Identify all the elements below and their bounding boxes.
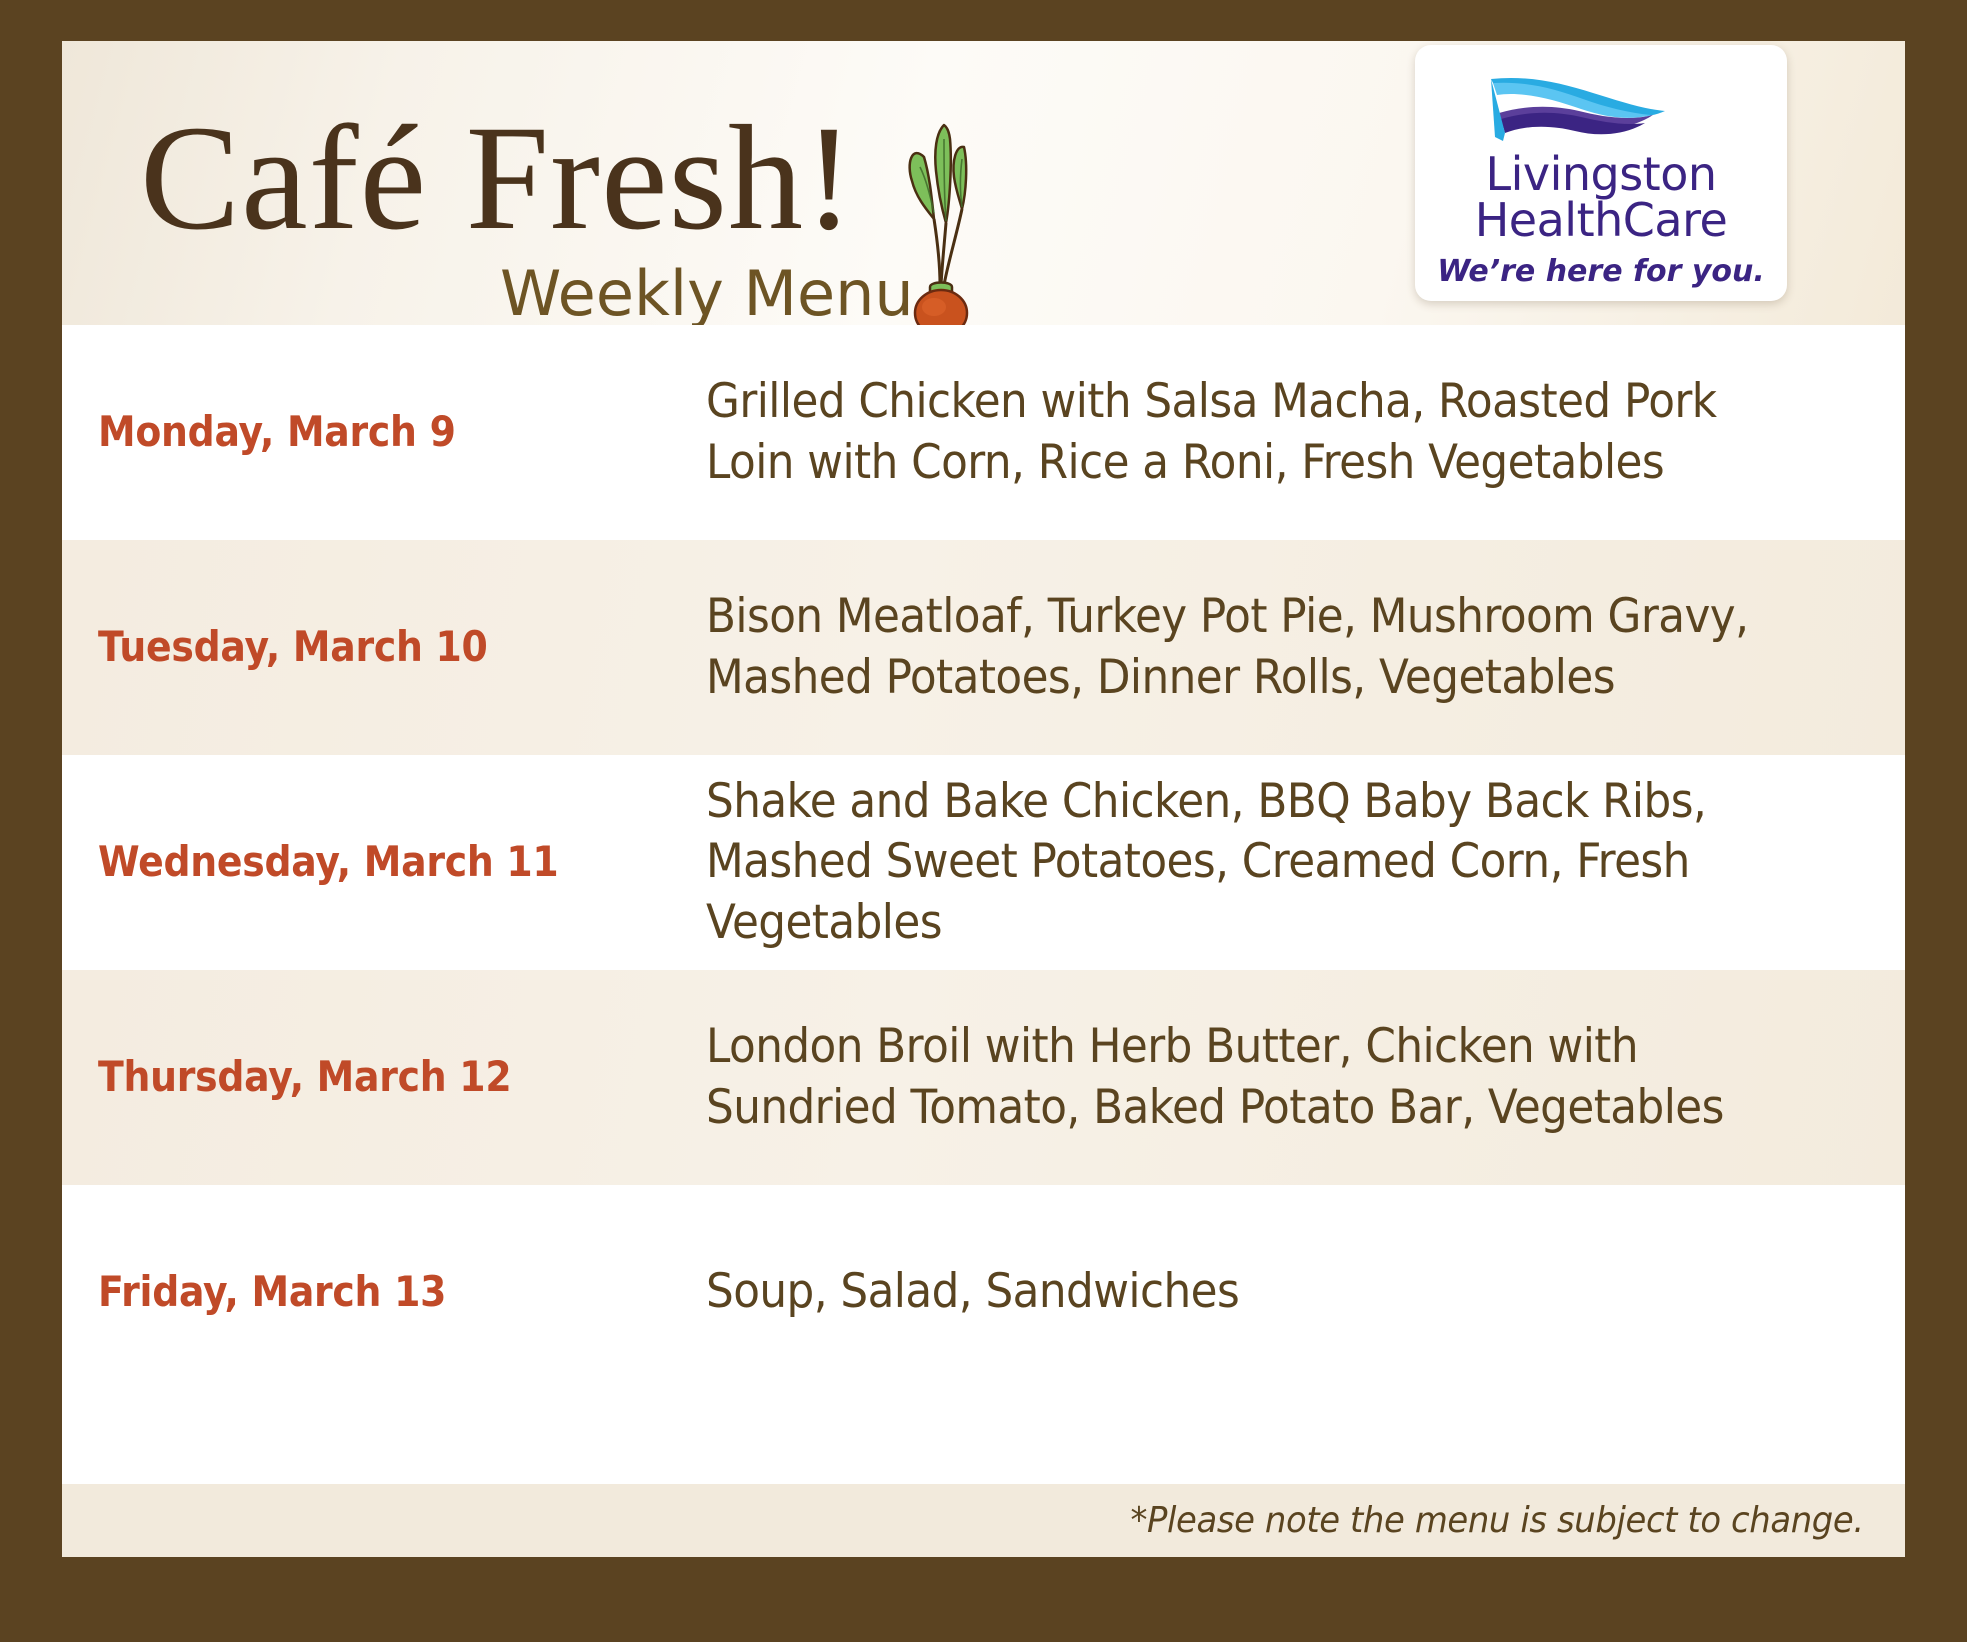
row-day-label: Monday, March 9 [98, 409, 645, 455]
row-description: Shake and Bake Chicken, BBQ Baby Back Ri… [706, 772, 1821, 952]
row-description: London Broil with Herb Butter, Chicken w… [706, 1017, 1821, 1137]
menu-rows: Monday, March 9 Grilled Chicken with Sal… [62, 325, 1905, 1400]
menu-poster: Café Fresh! Weekly Menu [0, 0, 1967, 1642]
livingston-flag-icon [1483, 71, 1671, 145]
beet-icon [878, 105, 998, 345]
logo-line-one: Livingston [1415, 151, 1787, 197]
menu-card: Café Fresh! Weekly Menu [62, 41, 1905, 1557]
livingston-healthcare-logo: Livingston HealthCare We’re here for you… [1415, 45, 1787, 301]
table-row: Monday, March 9 Grilled Chicken with Sal… [62, 325, 1905, 540]
table-row: Friday, March 13 Soup, Salad, Sandwiches [62, 1185, 1905, 1400]
row-day-label: Wednesday, March 11 [98, 839, 645, 885]
header-band: Café Fresh! Weekly Menu [62, 41, 1905, 325]
table-row: Thursday, March 12 London Broil with Her… [62, 970, 1905, 1185]
row-day-label: Tuesday, March 10 [98, 624, 645, 670]
row-description: Grilled Chicken with Salsa Macha, Roaste… [706, 372, 1821, 492]
row-description: Bison Meatloaf, Turkey Pot Pie, Mushroom… [706, 587, 1821, 707]
logo-line-two: HealthCare [1415, 197, 1787, 243]
footer-band: *Please note the menu is subject to chan… [62, 1484, 1905, 1557]
table-row: Tuesday, March 10 Bison Meatloaf, Turkey… [62, 540, 1905, 755]
brand-lockup: Café Fresh! Weekly Menu [140, 93, 960, 315]
page-title: Café Fresh! [140, 103, 855, 253]
logo-tagline: We’re here for you. [1415, 257, 1787, 287]
row-day-label: Thursday, March 12 [98, 1054, 645, 1100]
row-day-label: Friday, March 13 [98, 1269, 645, 1315]
row-description: Soup, Salad, Sandwiches [706, 1262, 1821, 1322]
disclaimer-note: *Please note the menu is subject to chan… [1130, 1500, 1905, 1541]
page-subtitle: Weekly Menu [500, 263, 914, 325]
table-row: Wednesday, March 11 Shake and Bake Chick… [62, 755, 1905, 970]
